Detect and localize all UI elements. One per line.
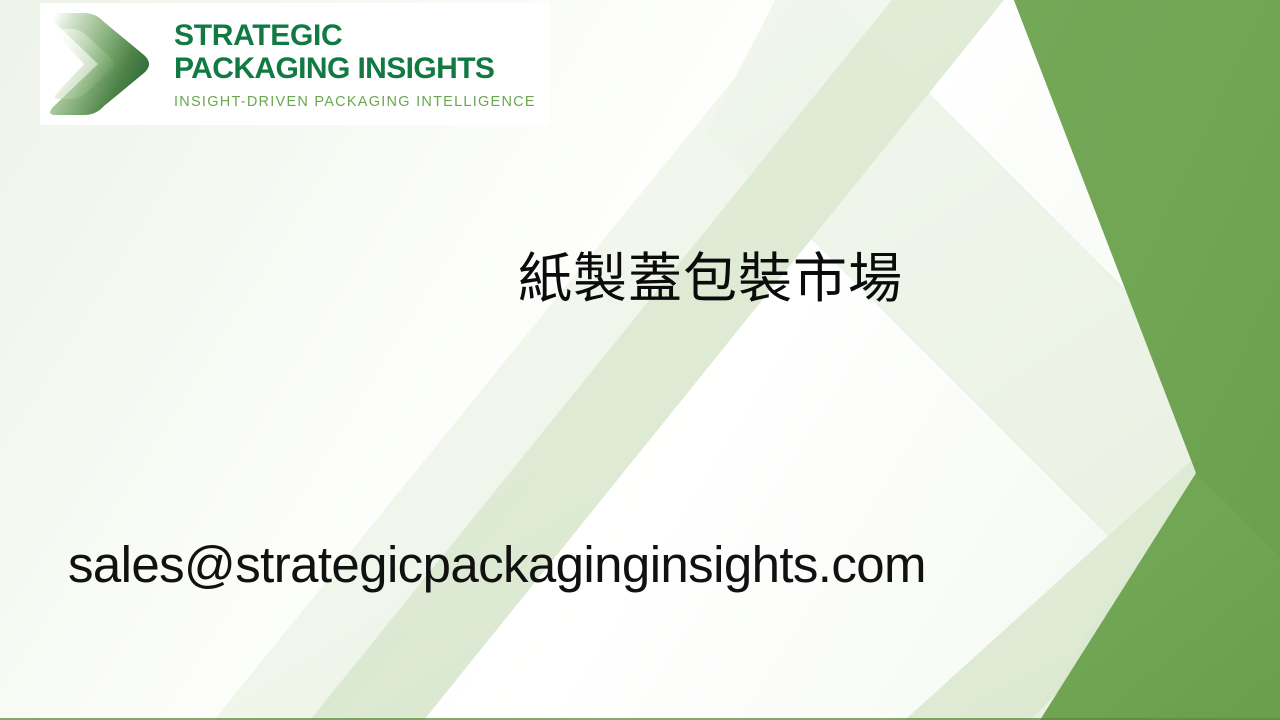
logo-line-2: PACKAGING INSIGHTS bbox=[174, 52, 550, 85]
chevron-right-mark-icon bbox=[40, 3, 172, 125]
company-logo: STRATEGIC PACKAGING INSIGHTS INSIGHT-DRI… bbox=[40, 3, 550, 125]
logo-wordmark: STRATEGIC PACKAGING INSIGHTS INSIGHT-DRI… bbox=[172, 19, 550, 110]
logo-tagline: INSIGHT-DRIVEN PACKAGING INTELLIGENCE bbox=[174, 94, 550, 110]
presentation-slide: STRATEGIC PACKAGING INSIGHTS INSIGHT-DRI… bbox=[0, 0, 1280, 720]
slide-title: 紙製蓋包裝市場 bbox=[518, 248, 903, 310]
logo-line-1: STRATEGIC bbox=[174, 19, 550, 52]
contact-email: sales@strategicpackaginginsights.com bbox=[68, 534, 926, 596]
